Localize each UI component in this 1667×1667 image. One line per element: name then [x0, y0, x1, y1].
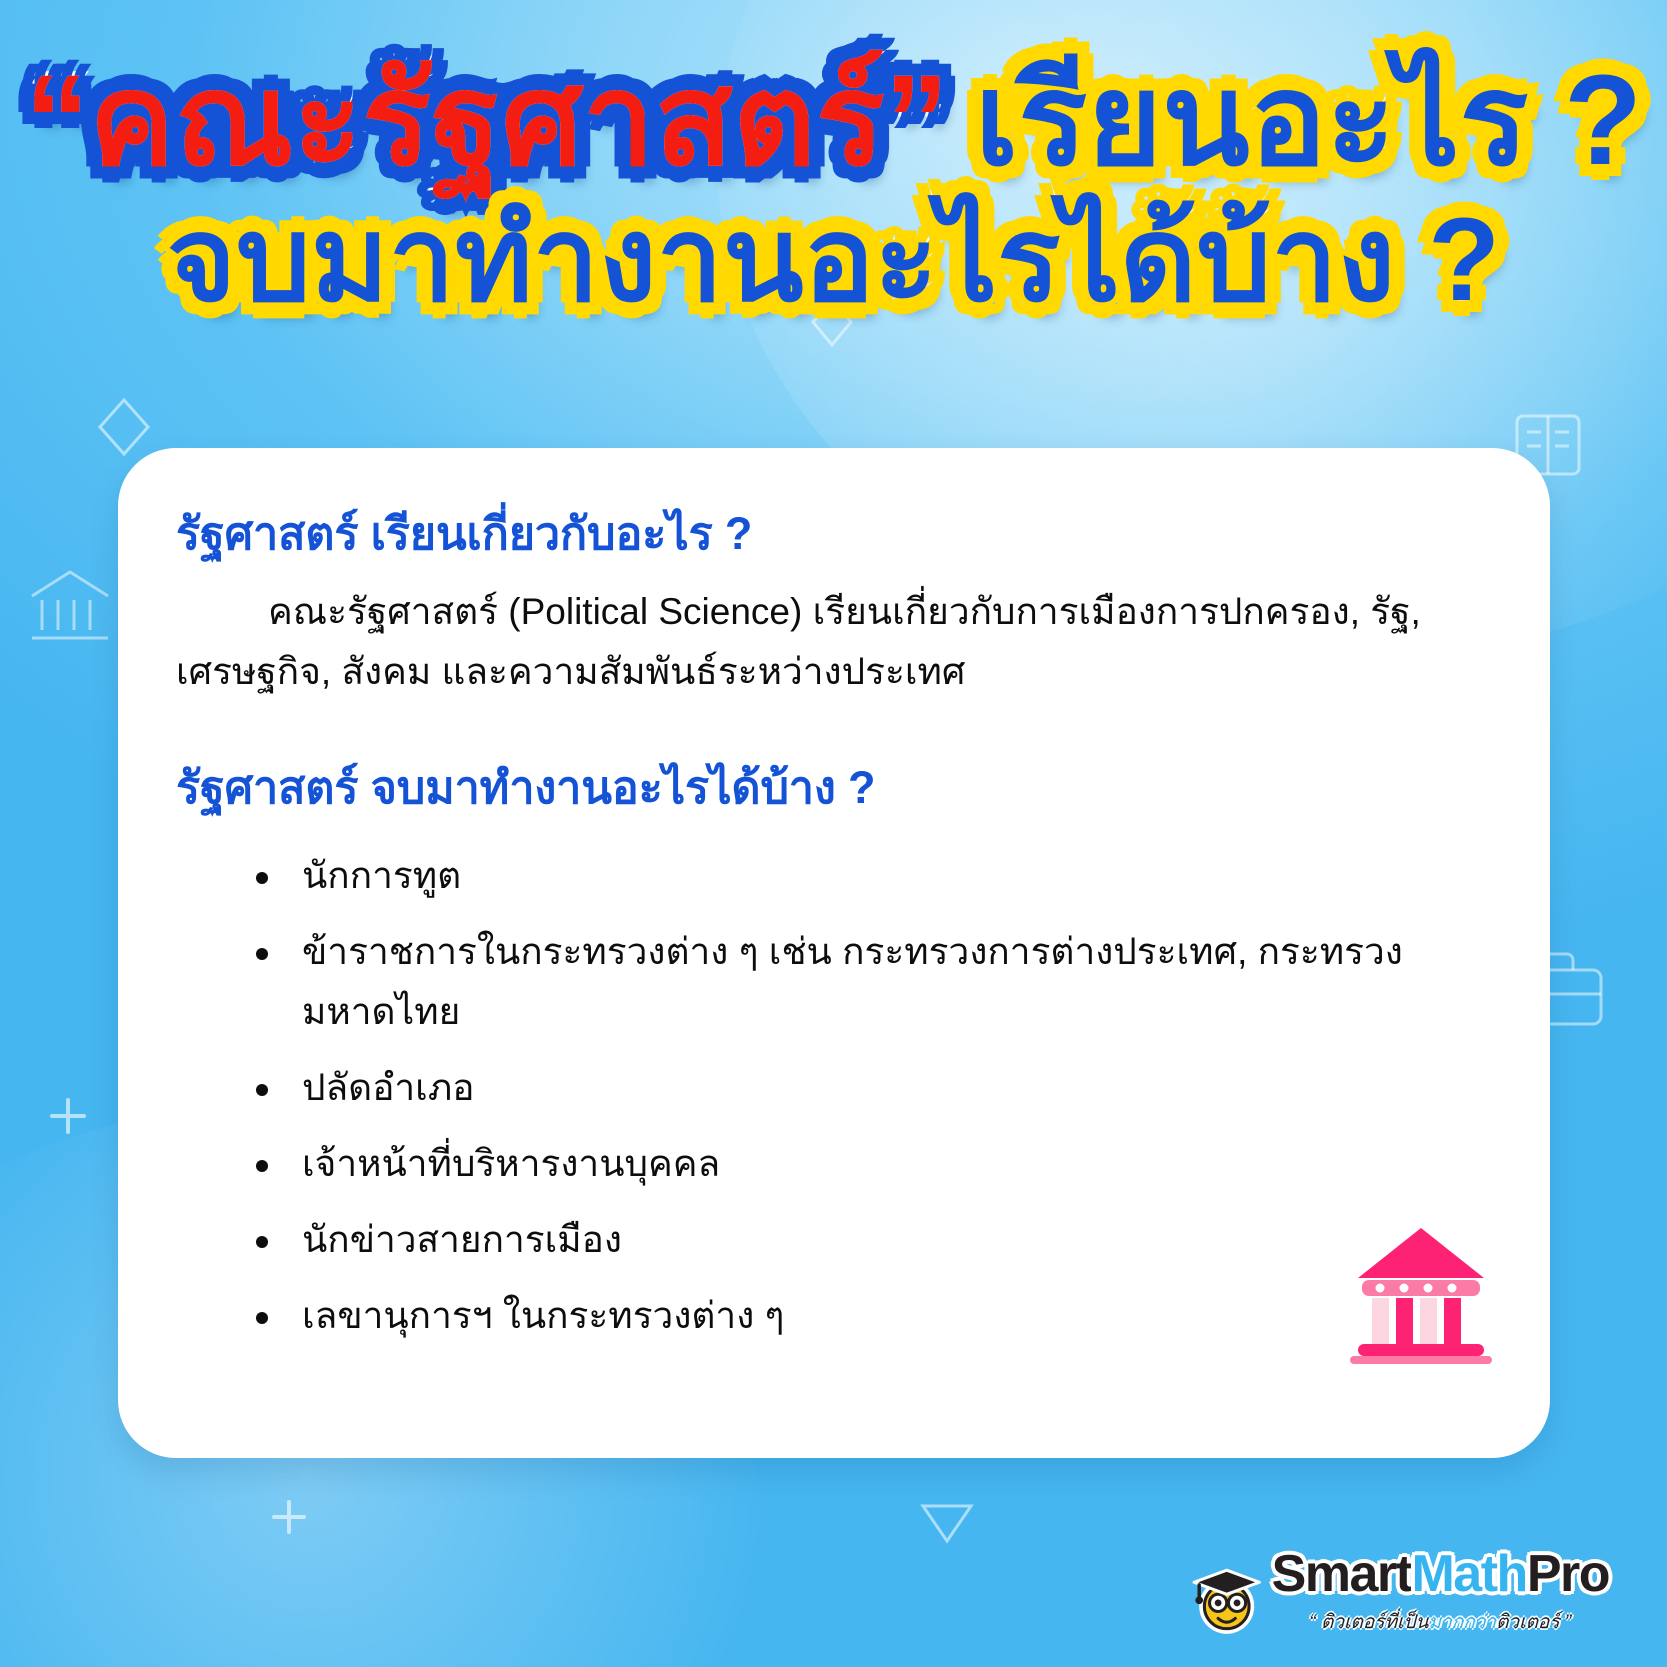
tagline-mid: มากกว่า: [1429, 1612, 1497, 1633]
decor-plus-left: [46, 1094, 90, 1138]
government-building-icon: [1348, 1216, 1494, 1366]
logo-part-math: Math: [1411, 1545, 1526, 1603]
headline-subject-quoted: “คณะรัฐศาสตร์”: [25, 49, 949, 192]
headline: “คณะรัฐศาสตร์”เรียนอะไร ? จบมาทำงานอะไรไ…: [0, 52, 1667, 326]
section-heading-what-you-study: รัฐศาสตร์ เรียนเกี่ยวกับอะไร ?: [176, 506, 1486, 562]
list-item: นักข่าวสายการเมือง: [242, 1210, 1432, 1270]
section-paragraph-what-you-study: คณะรัฐศาสตร์ (Political Science) เรียนเก…: [176, 582, 1476, 702]
headline-question-1: เรียนอะไร ?: [975, 49, 1643, 192]
tagline-post: ติวเตอร์ ”: [1496, 1612, 1571, 1633]
careers-list: นักการทูต ข้าราชการในกระทรวงต่าง ๆ เช่น …: [242, 846, 1486, 1346]
headline-line-2: จบมาทำงานอะไรได้บ้าง ?: [0, 196, 1667, 326]
section-heading-careers: รัฐศาสตร์ จบมาทำงานอะไรได้บ้าง ?: [176, 760, 1486, 816]
tagline-pre: “ ติวเตอร์ที่เป็น: [1309, 1612, 1428, 1633]
list-item: ปลัดอำเภอ: [242, 1058, 1432, 1118]
brand-logo: SmartMathPro “ ติวเตอร์ที่เป็นมากกว่าติว…: [1182, 1548, 1609, 1643]
list-item: นักการทูต: [242, 846, 1432, 906]
headline-line-1: “คณะรัฐศาสตร์”เรียนอะไร ?: [0, 52, 1667, 190]
graduate-owl-face-icon: [1182, 1553, 1268, 1639]
decor-bank-icon: [22, 560, 118, 652]
logo-text-wrap: SmartMathPro “ ติวเตอร์ที่เป็นมากกว่าติว…: [1272, 1548, 1609, 1643]
logo-part-smart: Smart: [1272, 1545, 1412, 1603]
list-item: ข้าราชการในกระทรวงต่าง ๆ เช่น กระทรวงการ…: [242, 922, 1432, 1042]
content-card: รัฐศาสตร์ เรียนเกี่ยวกับอะไร ? คณะรัฐศาส…: [118, 448, 1550, 1458]
card-inner: รัฐศาสตร์ เรียนเกี่ยวกับอะไร ? คณะรัฐศาส…: [118, 448, 1550, 1458]
decor-plus-bottom: [268, 1496, 310, 1538]
headline-question-2: จบมาทำงานอะไรได้บ้าง ?: [167, 194, 1500, 326]
list-item: เจ้าหน้าที่บริหารงานบุคคล: [242, 1134, 1432, 1194]
logo-part-pro: Pro: [1527, 1545, 1609, 1603]
poster-canvas: “คณะรัฐศาสตร์”เรียนอะไร ? จบมาทำงานอะไรไ…: [0, 0, 1667, 1667]
decor-triangle-bottom: [918, 1500, 976, 1546]
list-item: เลขานุการฯ ในกระทรวงต่าง ๆ: [242, 1286, 1432, 1346]
logo-tagline: “ ติวเตอร์ที่เป็นมากกว่าติวเตอร์ ”: [1272, 1607, 1609, 1637]
logo-wordmark: SmartMathPro: [1272, 1548, 1609, 1600]
